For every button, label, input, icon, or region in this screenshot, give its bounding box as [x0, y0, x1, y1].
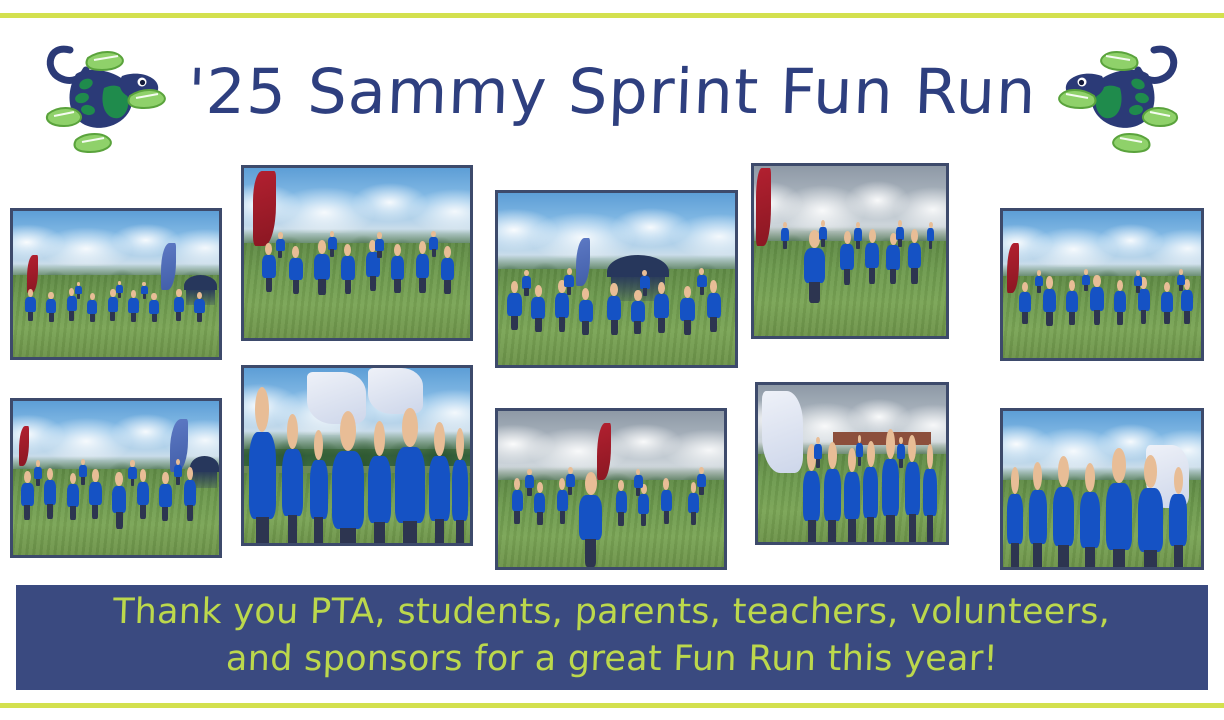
- thank-you-line-2: and sponsors for a great Fun Run this ye…: [225, 636, 998, 682]
- photo-students-group-smiling[interactable]: [1000, 408, 1204, 570]
- salamander-mascot-icon: [30, 22, 170, 162]
- salamander-mascot-icon: [1054, 22, 1194, 162]
- page-title: '25 Sammy Sprint Fun Run: [169, 61, 1056, 123]
- thank-you-line-1: Thank you PTA, students, parents, teache…: [113, 589, 1112, 635]
- photo-runners-red-flag[interactable]: [241, 165, 473, 341]
- photo-boy-running-red-flag[interactable]: [751, 163, 949, 339]
- photo-collage: [0, 160, 1224, 570]
- photo-kids-with-banner-flags[interactable]: [241, 365, 473, 546]
- photo-students-cheering-field[interactable]: [1000, 208, 1204, 361]
- thank-you-banner: Thank you PTA, students, parents, teache…: [16, 585, 1208, 690]
- photo-runner-red-flag-finish[interactable]: [495, 408, 727, 570]
- bottom-accent-rule: [0, 703, 1224, 708]
- photo-runners-start-line[interactable]: [10, 208, 222, 360]
- photo-class-with-white-banner[interactable]: [755, 382, 949, 545]
- photo-crowd-running-red-flag[interactable]: [10, 398, 222, 558]
- page-header: '25 Sammy Sprint Fun Run: [0, 22, 1224, 162]
- top-accent-rule: [0, 13, 1224, 18]
- photo-runners-blue-tent[interactable]: [495, 190, 738, 368]
